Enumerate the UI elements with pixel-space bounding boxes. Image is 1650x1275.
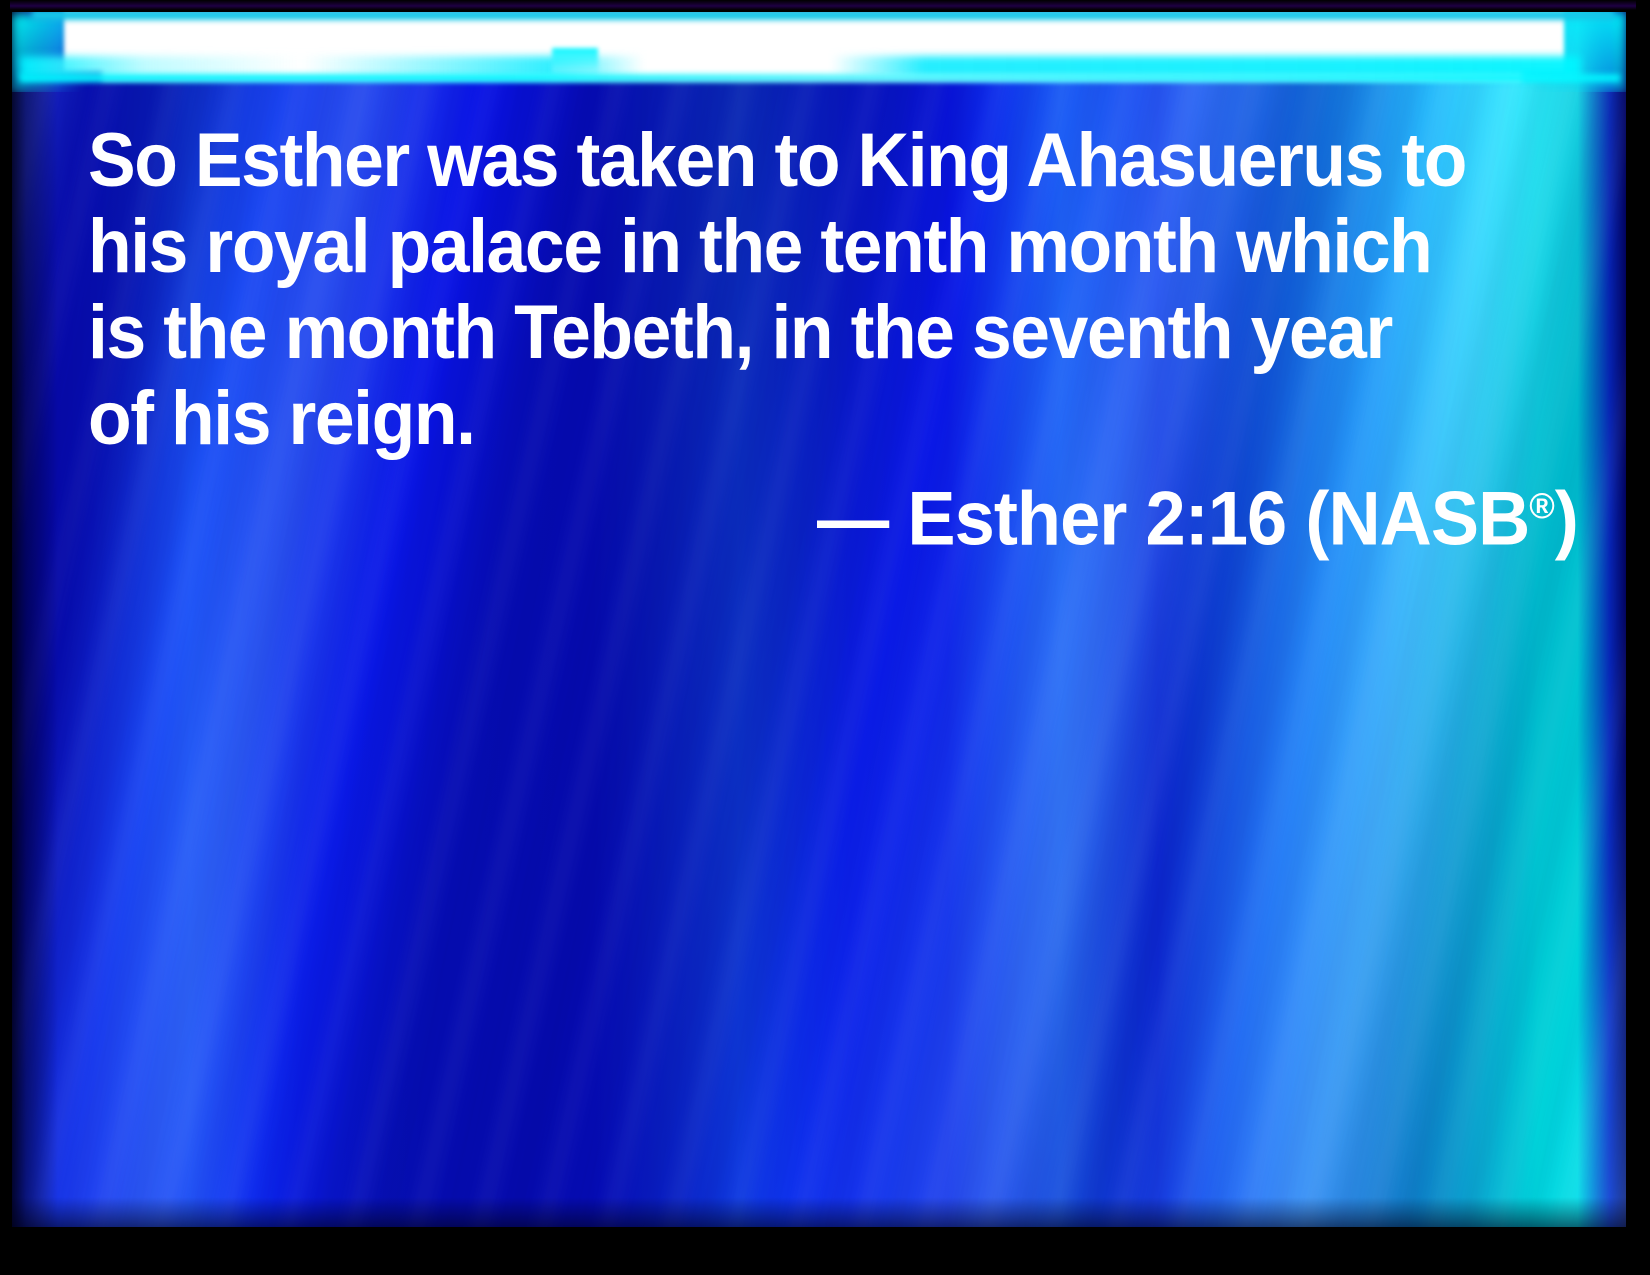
registered-trademark-icon: ® [1529, 485, 1555, 526]
attribution-space-2 [1127, 476, 1146, 561]
verse-line-3: is the month Tebeth, in the seventh year [88, 290, 1404, 376]
matte-top-purple-hint [0, 0, 1650, 10]
verse-line-4: of his reign. [88, 376, 1404, 462]
attribution-row: — Esther 2:16 (NASB®) [88, 463, 1578, 562]
matte-top [0, 0, 1650, 8]
attribution-translation-close: ) [1555, 476, 1578, 561]
slide-canvas: So Esther was taken to King Ahasuerus to… [12, 10, 1626, 1227]
attribution-translation-open: (NASB [1305, 476, 1529, 561]
verse-text-block: So Esther was taken to King Ahasuerus to… [88, 118, 1488, 462]
verse-attribution: — Esther 2:16 (NASB®) [817, 463, 1578, 562]
matte-bottom [0, 1227, 1650, 1275]
verse-slide: So Esther was taken to King Ahasuerus to… [0, 0, 1650, 1275]
attribution-space-3 [1286, 476, 1305, 561]
attribution-space-1 [888, 476, 907, 561]
verse-line-2: his royal palace in the tenth month whic… [88, 204, 1404, 290]
attribution-book: Esther [908, 476, 1127, 561]
matte-right [1636, 0, 1650, 1275]
attribution-em-dash: — [817, 476, 888, 561]
matte-left [0, 0, 10, 1275]
attribution-reference: 2:16 [1146, 476, 1287, 561]
verse-line-1: So Esther was taken to King Ahasuerus to [88, 118, 1404, 204]
